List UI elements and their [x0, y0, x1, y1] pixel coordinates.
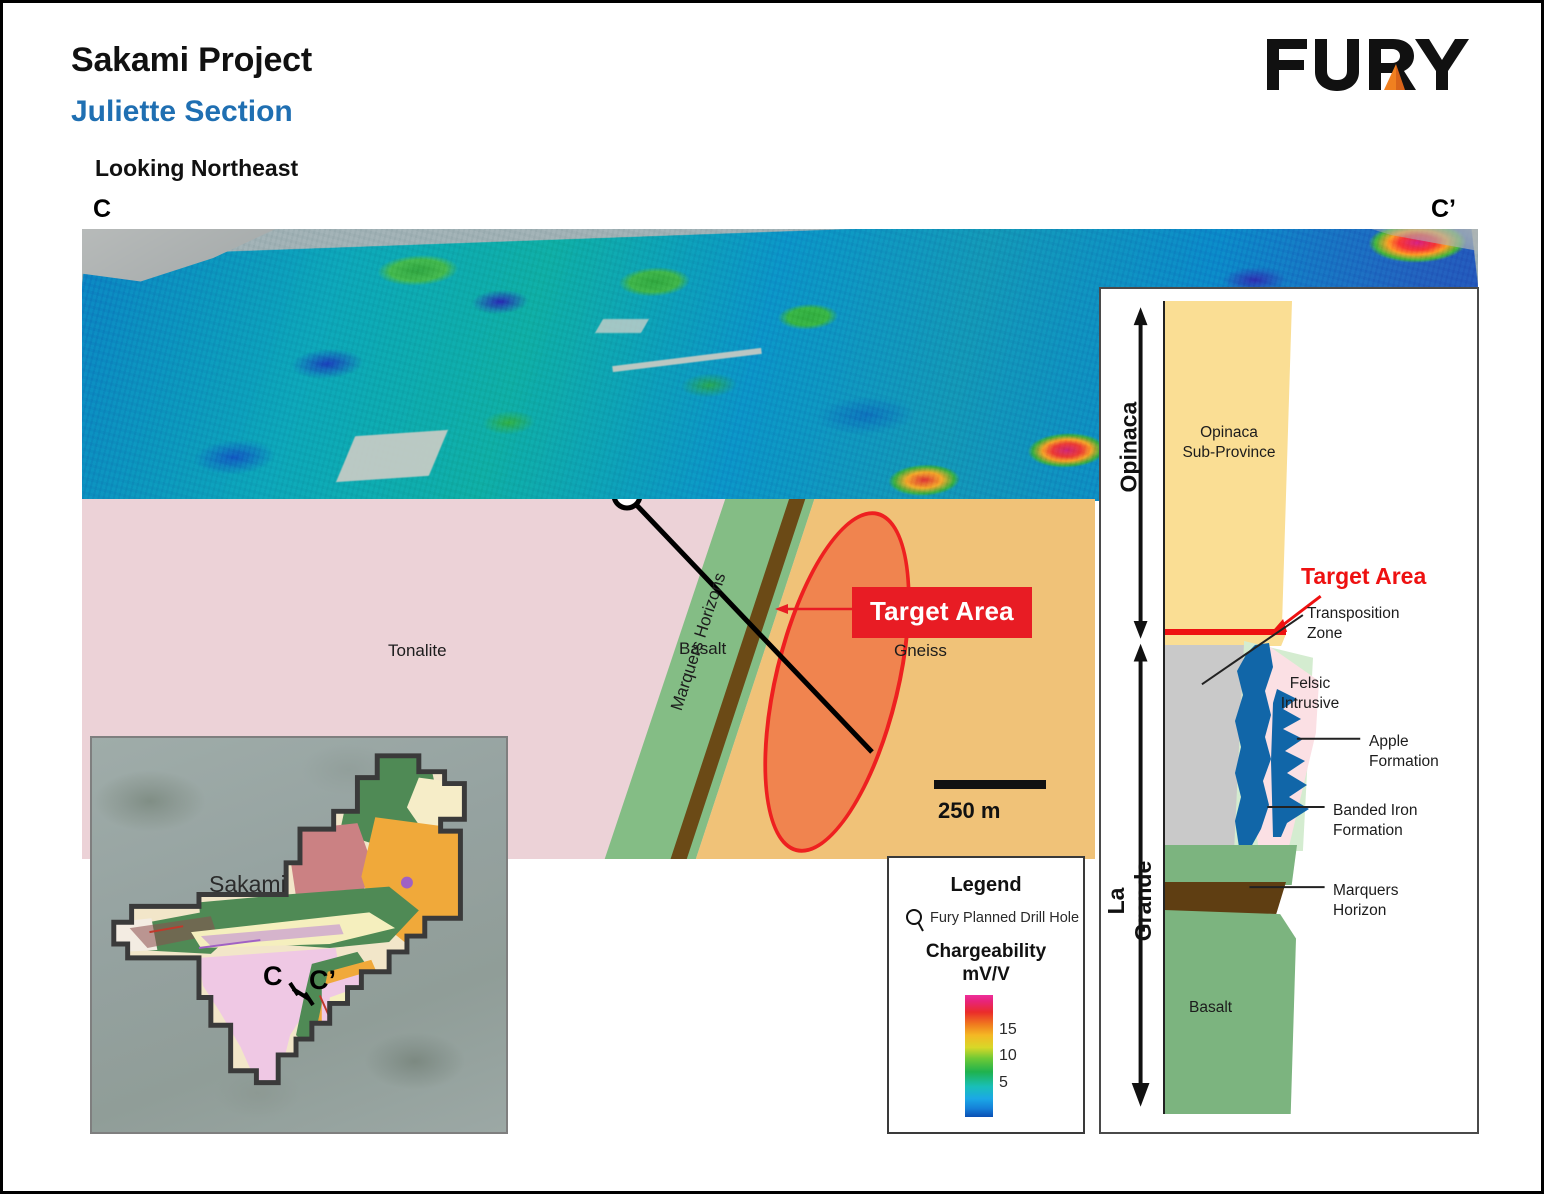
legend-chargeability-title: Chargeability mV/V [889, 940, 1083, 986]
strat-unit-marquers-horizon [1164, 882, 1286, 914]
legend-drill-hole-label: Fury Planned Drill Hole [930, 910, 1079, 926]
chargeability-colorbar [965, 995, 993, 1117]
strat-label-transposition-zone: Transposition Zone [1307, 604, 1447, 644]
legend-chargeability-line1: Chargeability [889, 940, 1083, 963]
strat-label-marquers-horizon: Marquers Horizon [1333, 881, 1457, 921]
strat-label-bif-line2: Formation [1333, 821, 1479, 841]
section-end-marker: C’ [1431, 195, 1456, 224]
colorbar-tick-10: 10 [999, 1047, 1017, 1065]
legend-panel: Legend Fury Planned Drill Hole Chargeabi… [887, 856, 1085, 1134]
section-start-marker: C [93, 195, 111, 224]
strat-label-felsic-line1: Felsic [1267, 674, 1353, 694]
claim-boundary-geology [92, 738, 506, 1132]
scale-bar [934, 780, 1046, 789]
survey-pad-b [594, 319, 648, 333]
strat-unit-banded-iron-formation [1221, 641, 1317, 853]
strat-label-apple-line1: Apple [1369, 732, 1477, 752]
strat-unit-opinaca-sub-province [1164, 301, 1292, 633]
strat-label-felsic-line2: Intrusive [1267, 694, 1353, 714]
strat-label-opinaca-sub-province: Opinaca Sub-Province [1173, 423, 1285, 463]
label-tonalite: Tonalite [388, 641, 447, 661]
strat-label-apple-line2: Formation [1369, 752, 1477, 772]
colorbar-tick-15: 15 [999, 1021, 1017, 1039]
strat-domain-opinaca-label: Opinaca [1116, 433, 1143, 493]
figure-root: Sakami Project Juliette Section Looking … [0, 0, 1544, 1194]
strat-label-target-area: Target Area [1301, 563, 1426, 590]
target-area-badge: Target Area [852, 587, 1032, 638]
colorbar-tick-5: 5 [999, 1074, 1008, 1092]
target-area-arrow-icon [773, 593, 863, 629]
strat-label-marquers-line2: Horizon [1333, 901, 1457, 921]
stratigraphic-column-panel: Opinaca La Grande Opinaca Sub-Province T… [1099, 287, 1479, 1134]
strat-label-felsic-intrusive: Felsic Intrusive [1267, 674, 1353, 714]
page-title: Sakami Project [71, 41, 312, 80]
strat-unit-basalt-upper [1164, 845, 1297, 885]
inset-section-line: C C’ [257, 953, 367, 1013]
svg-text:C: C [263, 961, 283, 991]
fury-logo [1265, 33, 1483, 95]
strat-label-basalt: Basalt [1189, 999, 1232, 1017]
legend-title: Legend [889, 874, 1083, 897]
strat-transposition-zone-line [1164, 629, 1286, 635]
inset-property-label: Sakami [209, 871, 286, 898]
svg-text:C’: C’ [309, 965, 336, 995]
strat-label-marquers-line1: Marquers [1333, 881, 1457, 901]
legend-chargeability-line2: mV/V [889, 963, 1083, 986]
strat-label-transposition-line2: Zone [1307, 624, 1447, 644]
view-direction-label: Looking Northeast [95, 155, 298, 182]
section-subtitle: Juliette Section [71, 95, 293, 129]
label-gneiss: Gneiss [894, 641, 947, 661]
strat-label-apple-formation: Apple Formation [1369, 732, 1477, 772]
strat-label-opinaca-line1: Opinaca [1173, 423, 1285, 443]
strat-label-opinaca-line2: Sub-Province [1173, 443, 1285, 463]
inset-location-map: Sakami C C’ [90, 736, 508, 1134]
scale-bar-label: 250 m [938, 798, 1000, 824]
drill-hole-icon [905, 908, 927, 934]
strat-label-banded-iron-formation: Banded Iron Formation [1333, 801, 1479, 841]
strat-label-transposition-line1: Transposition [1307, 604, 1447, 624]
strat-domain-la-grande-label: La Grande [1103, 860, 1157, 942]
strat-column-left-edge [1163, 301, 1165, 1114]
strat-label-bif-line1: Banded Iron [1333, 801, 1479, 821]
